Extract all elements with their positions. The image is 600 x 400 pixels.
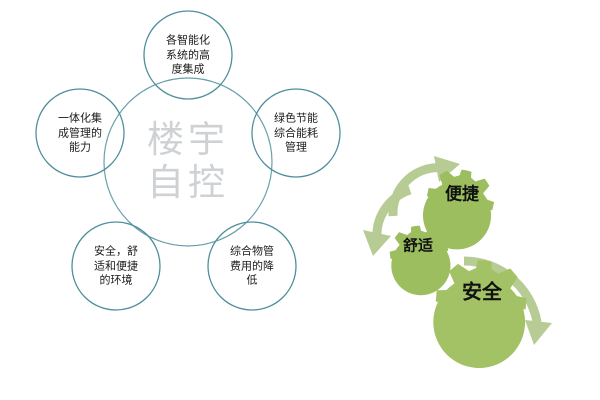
gear-cluster-svg [360, 130, 600, 370]
node-circle-bottom-right[interactable] [208, 222, 296, 310]
center-circle [104, 78, 272, 246]
node-circle-left[interactable] [36, 89, 124, 177]
node-circle-right[interactable] [252, 89, 340, 177]
arrowhead-lower-left [363, 230, 391, 256]
diagram-canvas: 楼宇 自控 各智能化 系统的高 度集成 一体化集 成管理的 能力 绿色节能 综合… [0, 0, 600, 400]
circle-cluster-svg [0, 0, 360, 360]
gear-cluster-diagram: 便捷 舒适 安全 [360, 130, 600, 370]
arrowhead-right [525, 320, 552, 345]
node-circle-bottom-left[interactable] [72, 222, 160, 310]
circle-cluster-diagram: 楼宇 自控 各智能化 系统的高 度集成 一体化集 成管理的 能力 绿色节能 综合… [0, 0, 360, 360]
node-circle-top[interactable] [144, 11, 232, 99]
